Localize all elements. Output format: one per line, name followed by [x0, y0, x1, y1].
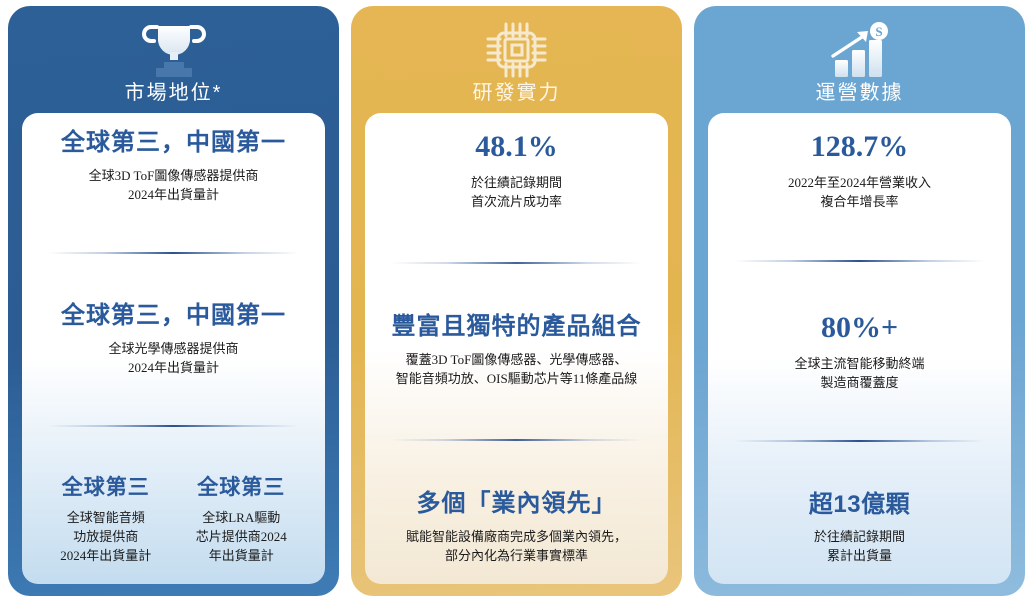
stat-subtext: 覆蓋3D ToF圖像傳感器、光學傳感器、 智能音頻功放、OIS驅動芯片等11條產…	[381, 351, 652, 389]
stat-subtext: 於往績記錄期間 累計出貨量	[724, 528, 995, 566]
svg-text:S: S	[875, 24, 882, 39]
stat-subtext: 全球智能音頻 功放提供商 2024年出貨量計	[38, 509, 174, 566]
stat-headline: 多個「業內領先」	[381, 490, 652, 519]
stat-headline: 全球第三，中國第一	[38, 129, 309, 158]
stat-subtext-line: 製造商覆蓋度	[724, 374, 995, 393]
stat-block: 豐富且獨特的產品組合 覆蓋3D ToF圖像傳感器、光學傳感器、 智能音頻功放、O…	[381, 311, 652, 390]
section-divider	[48, 252, 299, 254]
stat-headline: 超13億顆	[724, 491, 995, 520]
stat-headline: 48.1%	[381, 129, 652, 165]
card-panel: 全球第三，中國第一 全球3D ToF圖像傳感器提供商 2024年出貨量計 全球第…	[22, 113, 325, 584]
stat-subtext-line: 全球3D ToF圖像傳感器提供商	[38, 167, 309, 186]
stat-subtext-line: 全球智能音頻	[38, 509, 174, 528]
stat-block: 全球第三 全球智能音頻 功放提供商 2024年出貨量計	[38, 473, 174, 568]
stat-subtext: 全球主流智能移動終端 製造商覆蓋度	[724, 355, 995, 393]
stat-headline: 128.7%	[724, 129, 995, 165]
stat-subtext-line: 智能音頻功放、OIS驅動芯片等11條產品線	[381, 370, 652, 389]
stat-subtext-line: 於往績記錄期間	[381, 174, 652, 193]
section-divider	[734, 260, 985, 262]
stat-subtext-line: 2024年出貨量計	[38, 359, 309, 378]
stat-subtext: 於往績記錄期間 首次流片成功率	[381, 174, 652, 212]
stat-subtext-line: 累計出貨量	[724, 547, 995, 566]
stat-subtext-line: 功放提供商	[38, 528, 174, 547]
stat-subtext-line: 覆蓋3D ToF圖像傳感器、光學傳感器、	[381, 351, 652, 370]
growth-chart-dollar-icon: S	[825, 18, 895, 80]
section-divider	[391, 262, 642, 264]
stat-subtext: 全球光學傳感器提供商 2024年出貨量計	[38, 340, 309, 378]
section-divider	[734, 440, 985, 442]
card-title: 市場地位*	[125, 82, 223, 104]
stat-subtext-line: 全球光學傳感器提供商	[38, 340, 309, 359]
stat-block: 全球第三，中國第一 全球光學傳感器提供商 2024年出貨量計	[38, 300, 309, 379]
stat-block: 全球第三，中國第一 全球3D ToF圖像傳感器提供商 2024年出貨量計	[38, 127, 309, 206]
stat-subtext: 賦能智能設備廠商完成多個業內領先， 部分內化為行業事實標準	[381, 528, 652, 566]
card-title: 運營數據	[816, 82, 904, 104]
chip-icon	[484, 18, 550, 80]
stat-block: 128.7% 2022年至2024年營業收入 複合年增長率	[724, 127, 995, 214]
infographic-board: 市場地位* 全球第三，中國第一 全球3D ToF圖像傳感器提供商 2024年出貨…	[0, 0, 1033, 604]
stat-block: 48.1% 於往績記錄期間 首次流片成功率	[381, 127, 652, 214]
stat-block: 全球第三 全球LRA驅動 芯片提供商2024 年出貨量計	[174, 473, 310, 568]
stat-block: 多個「業內領先」 賦能智能設備廠商完成多個業內領先， 部分內化為行業事實標準	[381, 488, 652, 567]
stat-headline: 全球第三	[174, 475, 310, 500]
stat-subtext: 全球LRA驅動 芯片提供商2024 年出貨量計	[174, 509, 310, 566]
stat-subtext-line: 芯片提供商2024	[174, 528, 310, 547]
stat-subtext: 2022年至2024年營業收入 複合年增長率	[724, 174, 995, 212]
stat-headline: 全球第三，中國第一	[38, 302, 309, 331]
stat-subtext-line: 部分內化為行業事實標準	[381, 547, 652, 566]
card-panel: 128.7% 2022年至2024年營業收入 複合年增長率 80%+ 全球主流智…	[708, 113, 1011, 584]
trophy-icon	[138, 18, 210, 80]
card-rnd-strength: 研發實力 48.1% 於往績記錄期間 首次流片成功率 豐富且獨特的產品組合 覆蓋…	[351, 6, 682, 596]
stat-subtext-line: 複合年增長率	[724, 193, 995, 212]
stat-subtext-line: 全球主流智能移動終端	[724, 355, 995, 374]
stat-subtext-line: 2022年至2024年營業收入	[724, 174, 995, 193]
card-panel: 48.1% 於往績記錄期間 首次流片成功率 豐富且獨特的產品組合 覆蓋3D To…	[365, 113, 668, 584]
stat-subtext-line: 賦能智能設備廠商完成多個業內領先，	[381, 528, 652, 547]
section-divider	[48, 425, 299, 427]
stat-subtext: 全球3D ToF圖像傳感器提供商 2024年出貨量計	[38, 167, 309, 205]
stat-subtext-line: 2024年出貨量計	[38, 547, 174, 566]
card-operating-data: S 運營數據 128.7% 2022年至2024年營業收入 複合年增長率 80%…	[694, 6, 1025, 596]
stat-subtext-line: 年出貨量計	[174, 547, 310, 566]
stat-block: 80%+ 全球主流智能移動終端 製造商覆蓋度	[724, 308, 995, 395]
stat-headline: 全球第三	[38, 475, 174, 500]
stat-subtext-line: 首次流片成功率	[381, 193, 652, 212]
stat-subtext-line: 2024年出貨量計	[38, 186, 309, 205]
stat-block-split: 全球第三 全球智能音頻 功放提供商 2024年出貨量計 全球第三 全球LRA驅動…	[38, 473, 309, 568]
section-divider	[391, 439, 642, 441]
stat-subtext-line: 全球LRA驅動	[174, 509, 310, 528]
card-market-position: 市場地位* 全球第三，中國第一 全球3D ToF圖像傳感器提供商 2024年出貨…	[8, 6, 339, 596]
stat-headline: 豐富且獨特的產品組合	[381, 313, 652, 342]
card-title: 研發實力	[473, 82, 561, 104]
stat-block: 超13億顆 於往績記錄期間 累計出貨量	[724, 489, 995, 568]
stat-subtext-line: 於往績記錄期間	[724, 528, 995, 547]
stat-headline: 80%+	[724, 310, 995, 346]
